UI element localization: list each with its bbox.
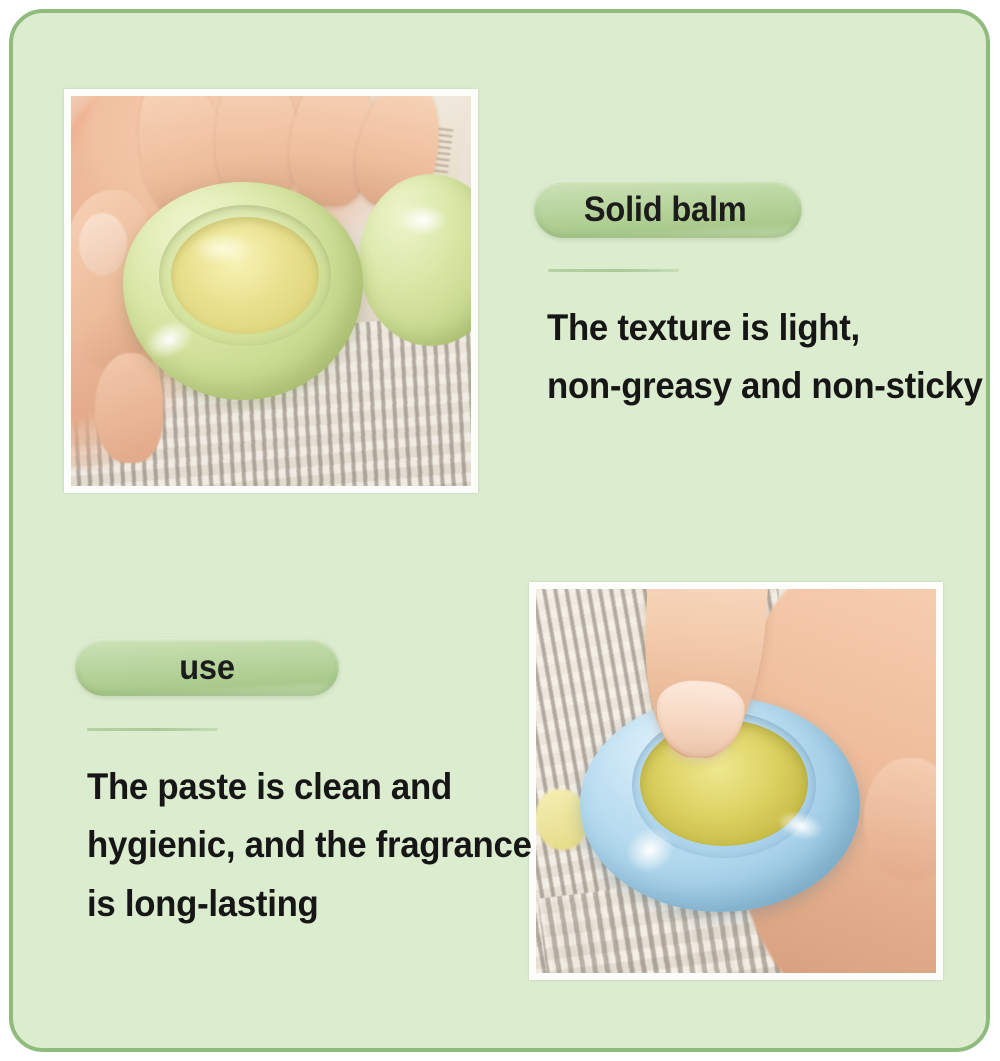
description-line: hygienic, and the fragrance — [87, 816, 503, 874]
badge-solid-balm-label: Solid balm — [543, 192, 792, 227]
description-line: is long-lasting — [87, 875, 503, 933]
photo-finger-dip-canvas — [536, 589, 936, 973]
photo-finger-dip — [529, 582, 943, 980]
divider-use — [87, 728, 218, 731]
description-line: The paste is clean and — [87, 758, 503, 816]
description-solid-balm: The texture is light, non-greasy and non… — [547, 299, 962, 416]
product-infographic: Solid balm The texture is light, non-gre… — [0, 0, 1000, 1061]
description-line: non-greasy and non-sticky — [547, 357, 962, 415]
solid-balm-surface — [171, 217, 319, 334]
thumbnail — [79, 213, 127, 275]
balm-sheen — [191, 233, 255, 264]
section-solid-balm: Solid balm The texture is light, non-gre… — [534, 180, 989, 416]
badge-use-label: use — [84, 650, 330, 685]
divider-solid-balm — [548, 269, 679, 272]
photo-balm-jar — [64, 89, 478, 493]
badge-use: use — [75, 638, 339, 696]
section-use: use The paste is clean and hygienic, and… — [75, 638, 530, 933]
description-use: The paste is clean and hygienic, and the… — [87, 758, 503, 933]
badge-solid-balm: Solid balm — [534, 180, 802, 238]
description-line: The texture is light, — [547, 299, 962, 357]
infographic-card: Solid balm The texture is light, non-gre… — [9, 9, 990, 1052]
little-finger — [95, 353, 163, 462]
photo-balm-jar-canvas — [71, 96, 471, 486]
